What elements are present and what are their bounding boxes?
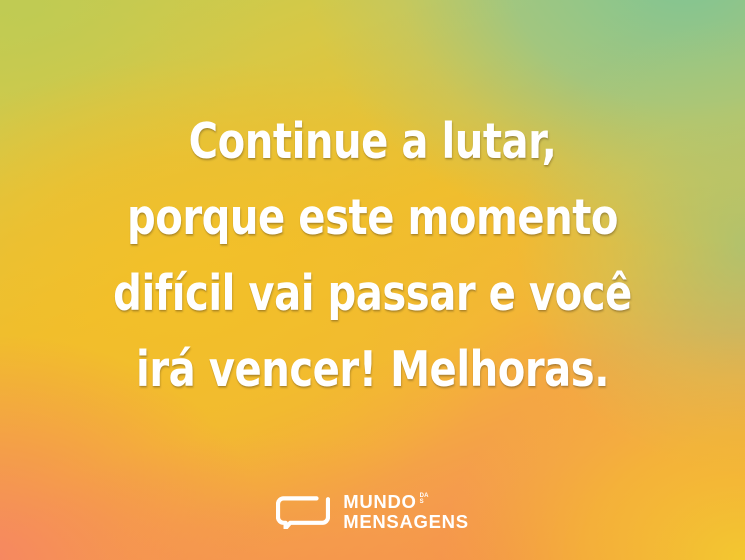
quote-line-2: porque este momento — [88, 180, 656, 256]
logo-word-mensagens: MENSAGENS — [343, 512, 469, 532]
logo-word-das: DA S — [420, 493, 429, 505]
logo-word-mundo: MUNDO — [343, 492, 416, 512]
logo-das-line-2: S — [420, 499, 429, 505]
logo-wordmark: MUNDO DA S MENSAGENS — [343, 492, 469, 532]
message-card: Continue a lutar, porque este momento di… — [0, 0, 745, 560]
quote-line-3: difícil vai passar e você — [88, 256, 656, 332]
logo-row-top: MUNDO DA S — [343, 492, 469, 512]
logo-row-bottom: MENSAGENS — [343, 512, 469, 532]
quote-line-4: irá vencer! Melhoras. — [88, 332, 656, 408]
speech-bubble-icon — [276, 495, 330, 529]
quote-text-block: Continue a lutar, porque este momento di… — [0, 104, 745, 408]
quote-line-1: Continue a lutar, — [88, 104, 656, 180]
brand-logo: MUNDO DA S MENSAGENS — [0, 492, 745, 532]
